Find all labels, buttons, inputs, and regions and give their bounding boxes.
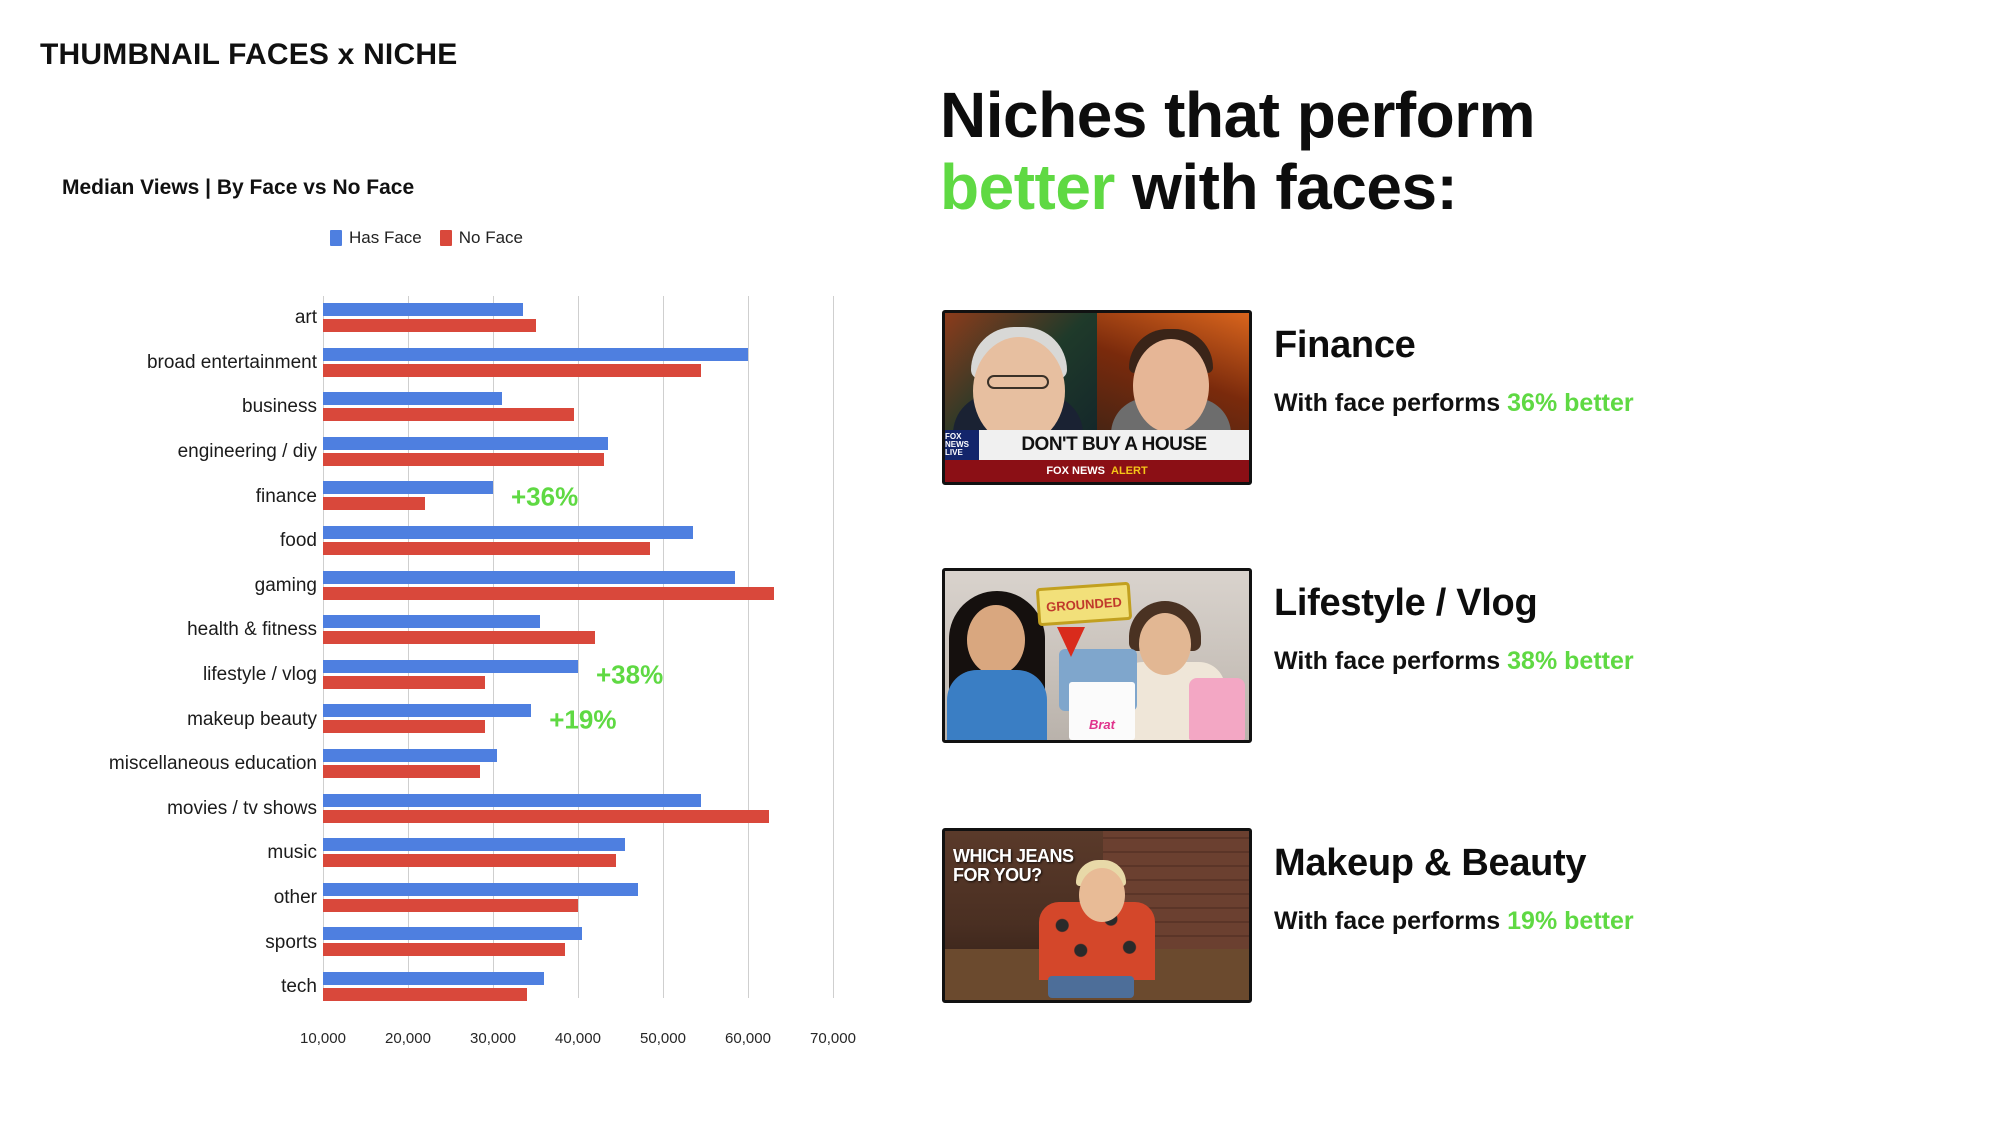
bar-no-face <box>323 364 701 377</box>
face-shape <box>1079 868 1125 922</box>
bar-has-face <box>323 481 493 494</box>
thumbnail-banner: FOX NEWS LIVE DON'T BUY A HOUSE <box>945 430 1249 460</box>
chart-row-label: broad entertainment <box>0 352 327 374</box>
headline-tail: with faces: <box>1115 151 1458 223</box>
chart-row-bars: +38% <box>323 653 905 698</box>
bar-no-face <box>323 631 595 644</box>
makeup-beauty-thumbnail[interactable]: WHICH JEANS FOR YOU? <box>942 828 1252 1003</box>
bar-has-face <box>323 526 693 539</box>
chart-row-bars <box>323 608 905 653</box>
chart-row: miscellaneous education <box>0 742 905 787</box>
bar-no-face <box>323 899 578 912</box>
chart-row-label: sports <box>0 932 327 954</box>
alert-text-white: FOX NEWS <box>1046 465 1105 477</box>
legend-item-has-face: Has Face <box>330 228 422 248</box>
bar-no-face <box>323 542 650 555</box>
highlight-card-finance[interactable]: FOX NEWS LIVE DON'T BUY A HOUSE FOX NEWS… <box>942 310 1634 485</box>
delta-annotation: +38% <box>596 660 663 691</box>
bar-no-face <box>323 943 565 956</box>
chart-row-label: miscellaneous education <box>0 753 327 775</box>
x-axis-tick-label: 40,000 <box>555 1030 601 1047</box>
card-subtitle-prefix: With face performs <box>1274 389 1507 417</box>
chart-row-label: art <box>0 307 327 329</box>
grounded-sign: GROUNDED <box>1036 582 1132 626</box>
card-subtitle-prefix: With face performs <box>1274 647 1507 675</box>
denim-shape <box>1048 976 1134 998</box>
chart-row: art <box>0 296 905 341</box>
chart-row-label: tech <box>0 976 327 998</box>
card-subtitle-prefix: With face performs <box>1274 907 1507 935</box>
chart-row: finance+36% <box>0 474 905 519</box>
legend-item-no-face: No Face <box>440 228 523 248</box>
bar-no-face <box>323 988 527 1001</box>
chart-row-label: health & fitness <box>0 619 327 641</box>
chart-row-bars <box>323 831 905 876</box>
x-axis-tick-label: 50,000 <box>640 1030 686 1047</box>
x-axis-ticks: 10,00020,00030,00040,00050,00060,00070,0… <box>323 1030 923 1064</box>
card-text-block: Lifestyle / Vlog With face performs 38% … <box>1274 568 1634 676</box>
legend-label-has-face: Has Face <box>349 228 422 248</box>
chart-row: makeup beauty+19% <box>0 697 905 742</box>
x-axis-tick-label: 60,000 <box>725 1030 771 1047</box>
chart-row-bars <box>323 920 905 965</box>
card-subtitle-percent: 36% better <box>1507 389 1633 417</box>
shopping-bag-shape: Brat <box>1069 682 1135 740</box>
chart-row: sports <box>0 920 905 965</box>
overlay-line-2: FOR YOU? <box>953 865 1042 885</box>
chart-row-label: other <box>0 887 327 909</box>
chart-row: other <box>0 876 905 921</box>
card-title: Lifestyle / Vlog <box>1274 582 1634 625</box>
delta-annotation: +36% <box>511 481 578 512</box>
chart-row: movies / tv shows <box>0 787 905 832</box>
dress-shape <box>947 670 1047 740</box>
bar-has-face <box>323 794 701 807</box>
bar-no-face <box>323 720 485 733</box>
card-title: Finance <box>1274 324 1634 367</box>
bar-no-face <box>323 854 616 867</box>
chart-row-bars <box>323 341 905 386</box>
bar-no-face <box>323 497 425 510</box>
alert-text-yellow: ALERT <box>1111 465 1148 477</box>
chart-row-bars <box>323 965 905 1010</box>
chart-title: Median Views | By Face vs No Face <box>62 176 414 200</box>
bar-has-face <box>323 437 608 450</box>
chart-row-label: food <box>0 530 327 552</box>
delta-annotation: +19% <box>549 704 616 735</box>
chart-row-bars <box>323 296 905 341</box>
highlights-panel: Niches that perform better with faces: <box>940 0 2002 1124</box>
chart-row-bars <box>323 430 905 475</box>
card-subtitle: With face performs 38% better <box>1274 647 1634 676</box>
thumbnail-overlay-text: WHICH JEANS FOR YOU? <box>953 847 1074 885</box>
fox-news-logo: FOX NEWS LIVE <box>945 430 979 460</box>
chart-row-bars <box>323 787 905 832</box>
chart-row-bars <box>323 385 905 430</box>
chart-row-bars <box>323 564 905 609</box>
chart-row: food <box>0 519 905 564</box>
face-shape <box>973 337 1065 445</box>
legend-swatch-has-face <box>330 230 342 246</box>
thumbnail-banner-text: DON'T BUY A HOUSE <box>979 434 1249 456</box>
bar-no-face <box>323 765 480 778</box>
bar-has-face <box>323 704 531 717</box>
chart-panel: THUMBNAIL FACES x NICHE Median Views | B… <box>0 0 905 1124</box>
bar-has-face <box>323 392 502 405</box>
chart-row: engineering / diy <box>0 430 905 475</box>
bar-has-face <box>323 883 638 896</box>
headline: Niches that perform better with faces: <box>940 80 1940 223</box>
chart-row: gaming <box>0 564 905 609</box>
bar-has-face <box>323 927 582 940</box>
glasses-icon <box>987 375 1049 389</box>
chart-rows: artbroad entertainmentbusinessengineerin… <box>0 296 905 1010</box>
bar-chart-plot: artbroad entertainmentbusinessengineerin… <box>0 296 905 1016</box>
bar-has-face <box>323 615 540 628</box>
chart-row-label: finance <box>0 486 327 508</box>
headline-line1: Niches that perform <box>940 79 1535 151</box>
chart-row: health & fitness <box>0 608 905 653</box>
chart-legend: Has Face No Face <box>330 228 523 248</box>
bar-has-face <box>323 571 735 584</box>
bar-no-face <box>323 453 604 466</box>
x-axis-tick-label: 20,000 <box>385 1030 431 1047</box>
chart-row-bars <box>323 519 905 564</box>
legend-label-no-face: No Face <box>459 228 523 248</box>
highlight-card-lifestyle-vlog[interactable]: Brat GROUNDED Lifestyle / Vlog With face… <box>942 568 1634 743</box>
overlay-line-1: WHICH JEANS <box>953 846 1074 866</box>
thumbnail-alert-bar: FOX NEWS ALERT <box>945 460 1249 482</box>
down-arrow-icon <box>1057 627 1085 657</box>
chart-row: business <box>0 385 905 430</box>
x-axis-tick-label: 30,000 <box>470 1030 516 1047</box>
chart-row-label: gaming <box>0 575 327 597</box>
face-shape <box>1139 613 1191 675</box>
bar-no-face <box>323 676 485 689</box>
lifestyle-vlog-thumbnail[interactable]: Brat GROUNDED <box>942 568 1252 743</box>
chart-row-bars: +36% <box>323 474 905 519</box>
bar-has-face <box>323 303 523 316</box>
bar-no-face <box>323 408 574 421</box>
x-axis-tick-label: 10,000 <box>300 1030 346 1047</box>
card-subtitle: With face performs 19% better <box>1274 907 1634 936</box>
card-text-block: Finance With face performs 36% better <box>1274 310 1634 418</box>
chart-row-bars: +19% <box>323 697 905 742</box>
card-subtitle-percent: 19% better <box>1507 907 1633 935</box>
headline-green-word: better <box>940 151 1115 223</box>
finance-thumbnail[interactable]: FOX NEWS LIVE DON'T BUY A HOUSE FOX NEWS… <box>942 310 1252 485</box>
highlight-card-makeup-beauty[interactable]: WHICH JEANS FOR YOU? Makeup & Beauty Wit… <box>942 828 1634 1003</box>
x-axis-tick-label: 70,000 <box>810 1030 856 1047</box>
bar-no-face <box>323 810 769 823</box>
chart-row-label: lifestyle / vlog <box>0 664 327 686</box>
chart-row-label: makeup beauty <box>0 709 327 731</box>
bar-no-face <box>323 319 536 332</box>
chart-row: broad entertainment <box>0 341 905 386</box>
bar-has-face <box>323 660 578 673</box>
bar-has-face <box>323 972 544 985</box>
bar-has-face <box>323 838 625 851</box>
face-shape <box>1133 339 1209 433</box>
chart-row: music <box>0 831 905 876</box>
page-title: THUMBNAIL FACES x NICHE <box>40 38 457 72</box>
pink-boots-shape <box>1189 678 1245 740</box>
chart-row-label: movies / tv shows <box>0 798 327 820</box>
card-subtitle: With face performs 36% better <box>1274 389 1634 418</box>
chart-row-bars <box>323 742 905 787</box>
bar-no-face <box>323 587 774 600</box>
card-subtitle-percent: 38% better <box>1507 647 1633 675</box>
card-text-block: Makeup & Beauty With face performs 19% b… <box>1274 828 1634 936</box>
bar-has-face <box>323 749 497 762</box>
bar-has-face <box>323 348 748 361</box>
chart-row-label: business <box>0 396 327 418</box>
card-title: Makeup & Beauty <box>1274 842 1634 885</box>
chart-row: lifestyle / vlog+38% <box>0 653 905 698</box>
chart-row-label: music <box>0 842 327 864</box>
legend-swatch-no-face <box>440 230 452 246</box>
chart-row: tech <box>0 965 905 1010</box>
chart-row-label: engineering / diy <box>0 441 327 463</box>
chart-row-bars <box>323 876 905 921</box>
face-shape <box>967 605 1025 675</box>
